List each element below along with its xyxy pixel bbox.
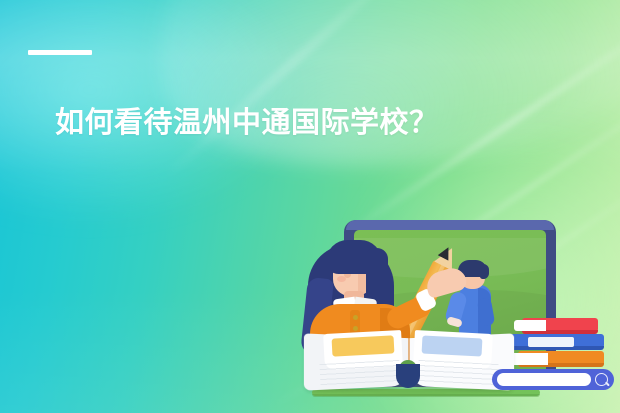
page-title: 如何看待温州中通国际学校？ xyxy=(55,104,439,142)
article-cover-banner: 如何看待温州中通国际学校？ xyxy=(0,0,620,413)
student-hair-side xyxy=(480,264,489,279)
ground-shelf-shade xyxy=(312,394,540,397)
open-book-spine xyxy=(396,364,420,388)
teacher-button xyxy=(353,326,358,331)
search-icon[interactable] xyxy=(595,373,608,386)
teacher-cheek xyxy=(337,276,346,282)
teacher-button xyxy=(353,315,358,320)
education-illustration xyxy=(296,206,620,413)
stack-book-middle-pages xyxy=(528,337,574,347)
blackboard-frame-top xyxy=(346,220,554,230)
accent-rule xyxy=(28,50,92,55)
stack-book-top-pages xyxy=(514,320,546,331)
open-book-right-highlight xyxy=(422,335,483,356)
open-book-left-highlight xyxy=(332,335,395,356)
open-book-right-text xyxy=(417,360,498,386)
search-input[interactable] xyxy=(497,373,591,386)
open-book-left-text xyxy=(319,360,400,386)
